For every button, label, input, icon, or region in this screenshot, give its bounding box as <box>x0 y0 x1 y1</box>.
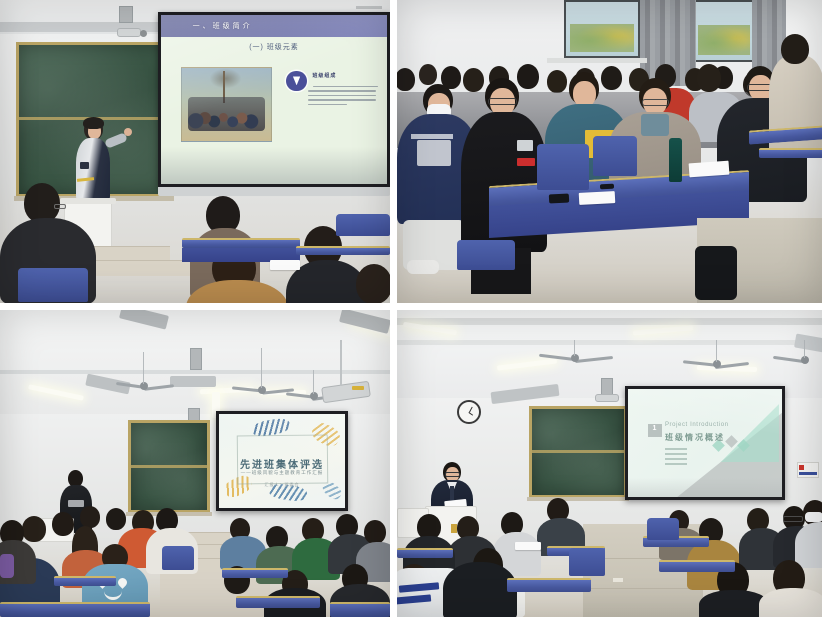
audience-head <box>22 516 46 542</box>
audience-shoulders <box>759 588 822 617</box>
student-face-mask-icon <box>805 512 822 522</box>
projector-lens-icon <box>140 30 147 37</box>
projection-screen: 先进班集体评选 ——班级风貌与主题教育工作汇报 汇报人：班委会 <box>219 414 345 508</box>
slide-group-photo <box>181 67 271 141</box>
student-head <box>419 64 437 85</box>
classroom-wide-scene: 先进班集体评选 ——班级风貌与主题教育工作汇报 汇报人：班委会 <box>0 310 390 617</box>
audience-left-block <box>397 506 597 617</box>
projector <box>117 28 141 37</box>
slide-author: 汇报人：班委会 <box>219 482 345 488</box>
hoodie-graphic-text <box>411 134 453 139</box>
poster-red-block <box>799 465 804 470</box>
classroom-front-scene: 一、班级简介 (一) 班级元素 班级组成 <box>0 0 390 303</box>
chalkboard <box>128 420 210 513</box>
outdoor-greenery <box>570 24 633 52</box>
projector-indicator <box>352 386 364 390</box>
chair-back <box>457 240 515 270</box>
vest-patch-icon <box>517 140 533 151</box>
presenter-tie <box>450 486 454 500</box>
slide-header-band: 一、班级简介 <box>161 15 387 37</box>
projection-screen: 1 Project Introduction 班级情况概述 <box>628 389 782 497</box>
chalkboard <box>529 406 627 498</box>
light-housing <box>170 376 216 387</box>
photo-top-left[interactable]: 一、班级简介 (一) 班级元素 班级组成 <box>0 0 390 303</box>
fan-rod <box>261 348 262 388</box>
student-boots <box>695 246 737 300</box>
slide-subheading: 班级组成 <box>312 72 336 79</box>
slide-header-text: 一、班级简介 <box>193 21 253 31</box>
student-head <box>781 34 809 64</box>
fan-rod <box>143 352 144 384</box>
desk <box>330 602 390 617</box>
desk <box>759 148 822 158</box>
phone <box>549 193 569 203</box>
desk <box>236 596 320 608</box>
phone <box>600 184 614 190</box>
classroom-audience-scene <box>397 0 822 303</box>
chair-back <box>162 546 194 570</box>
desk <box>54 576 116 586</box>
projector-mount-pole <box>340 340 342 386</box>
slide-diamond-decor <box>725 435 738 448</box>
fan-hub <box>801 356 809 364</box>
desk <box>397 548 453 558</box>
fan-hub <box>310 392 318 400</box>
chalk-tray <box>527 497 629 501</box>
floor-marker <box>613 578 623 582</box>
desk <box>507 578 591 592</box>
fan-rod <box>574 340 575 356</box>
desk <box>0 602 150 617</box>
fan-rod <box>804 340 805 358</box>
vest-patch-red-icon <box>517 158 535 166</box>
ceiling-speaker-icon <box>119 6 133 23</box>
slide-title-advanced-class: 先进班集体评选 ——班级风貌与主题教育工作汇报 汇报人：班委会 <box>219 414 345 508</box>
water-bottle <box>669 138 682 182</box>
hoodie-graphic <box>417 140 451 166</box>
projection-screen-frame: 一、班级简介 (一) 班级元素 班级组成 <box>158 12 390 187</box>
ceiling-beam <box>397 340 822 345</box>
photo-bottom-right[interactable]: 1 Project Introduction 班级情况概述 <box>397 310 822 617</box>
slide-class-introduction: 一、班级简介 (一) 班级元素 班级组成 <box>161 15 387 184</box>
slide-bullet-lines <box>665 448 687 468</box>
fan-rod <box>313 370 314 394</box>
paper-sheet <box>579 191 616 205</box>
presenter-hair <box>83 117 104 129</box>
fan-hub <box>140 382 148 390</box>
notice-poster <box>797 462 819 478</box>
purple-sleeve <box>0 554 14 578</box>
audience-head <box>356 264 390 303</box>
wall-trim <box>0 370 390 374</box>
photo-collage: 一、班级简介 (一) 班级元素 班级组成 <box>0 0 822 617</box>
slide-bullet-badge-icon <box>286 71 306 91</box>
chair-back <box>593 136 637 176</box>
projection-screen: 一、班级简介 (一) 班级元素 班级组成 <box>161 15 387 184</box>
slide-section-heading: (一) 班级元素 <box>161 42 387 52</box>
tree-canopy <box>209 68 243 88</box>
student-glasses-icon <box>642 99 669 106</box>
chalk-residue <box>532 409 624 495</box>
ceiling-label <box>356 6 382 9</box>
poster-blue-block <box>799 472 817 475</box>
audience-glasses-icon <box>54 204 66 209</box>
audience-head <box>52 512 74 536</box>
audience-head <box>364 520 386 544</box>
audience-head <box>80 506 100 528</box>
chair-back <box>336 214 390 236</box>
paper-sheet <box>515 542 541 550</box>
classroom-teacher-scene: 1 Project Introduction 班级情况概述 <box>397 310 822 617</box>
slide-section-number: 1 <box>652 425 656 432</box>
fan-hub <box>258 386 266 394</box>
slide-mint-triangle-decor <box>720 404 779 462</box>
wall-speaker <box>190 348 202 370</box>
chair-back <box>647 518 679 540</box>
group-of-people <box>188 97 266 130</box>
coat-collar <box>641 114 669 136</box>
slide-body-text <box>308 86 376 109</box>
slide-project-introduction: 1 Project Introduction 班级情况概述 <box>628 389 782 497</box>
audience-shoulders <box>443 562 517 617</box>
window <box>564 0 640 58</box>
audience-head <box>24 183 60 223</box>
outdoor-greenery <box>698 25 749 55</box>
photo-top-right[interactable] <box>397 0 822 303</box>
desk <box>182 238 300 248</box>
presenter-hand <box>124 128 132 136</box>
presenter-jacket-number <box>80 162 89 169</box>
paper-sheet <box>270 260 300 270</box>
slide-section-number-box: 1 <box>648 424 662 438</box>
student-shoe <box>407 260 439 274</box>
window <box>693 0 755 62</box>
wall-clock <box>457 400 481 424</box>
fan-rod <box>716 340 717 362</box>
desk <box>222 568 288 578</box>
slide-chinese-title: 班级情况概述 <box>665 432 725 443</box>
ceiling-beam <box>397 318 822 325</box>
paper-sheet <box>689 161 730 178</box>
student-glasses-icon <box>488 98 517 105</box>
fan-hub <box>571 354 579 362</box>
chalk-residue <box>131 423 207 510</box>
chair-back <box>537 144 589 190</box>
fan-hub <box>713 360 721 368</box>
desk <box>659 560 735 572</box>
student-glasses-icon <box>783 516 803 522</box>
projector <box>595 394 619 402</box>
projection-screen-frame: 1 Project Introduction 班级情况概述 <box>625 386 785 500</box>
desk <box>296 246 390 255</box>
chair-back <box>569 548 605 576</box>
presenter-glasses-icon <box>445 472 460 477</box>
projection-screen-frame: 先进班集体评选 ——班级风貌与主题教育工作汇报 汇报人：班委会 <box>216 411 348 511</box>
slide-english-title: Project Introduction <box>665 422 729 428</box>
audience-left-block <box>0 506 186 617</box>
photo-bottom-left[interactable]: 先进班集体评选 ——班级风貌与主题教育工作汇报 汇报人：班委会 <box>0 310 390 617</box>
chair-back <box>18 268 88 302</box>
audience-head <box>106 508 126 530</box>
slide-subtitle: ——班级风貌与主题教育工作汇报 <box>219 470 345 476</box>
